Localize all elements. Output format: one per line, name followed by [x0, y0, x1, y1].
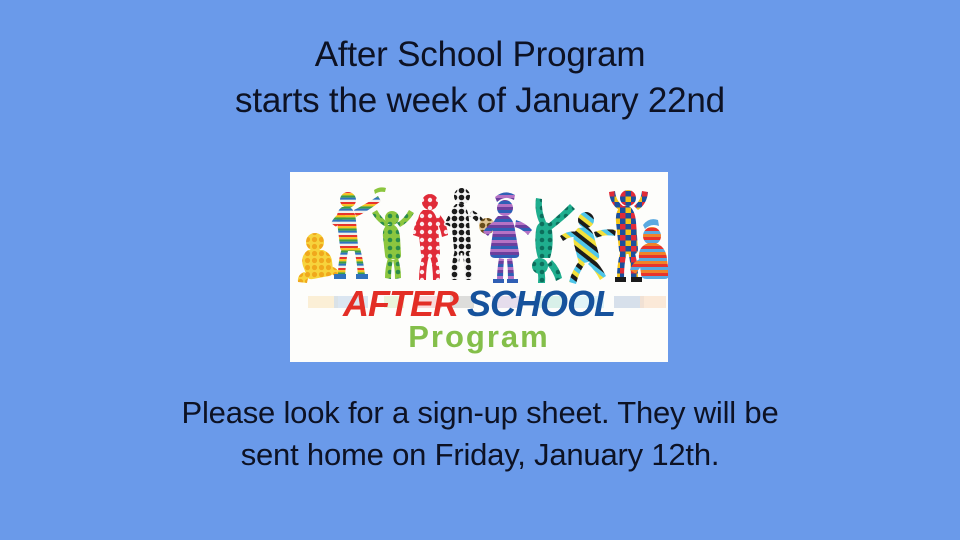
- figure-dancing-girl-purple: [483, 192, 532, 283]
- headline-line-2: starts the week of January 22nd: [0, 78, 960, 124]
- figure-running-child-cyan: [560, 212, 616, 284]
- logo-wordmark-line-1: AFTER SCHOOL: [290, 284, 668, 324]
- headline-line-1: After School Program: [0, 32, 960, 78]
- figure-arms-up-child-green: [372, 210, 414, 279]
- page-title: After School Program starts the week of …: [0, 32, 960, 124]
- figure-jumping-child-rainbow: [331, 187, 386, 279]
- after-school-program-logo-image: AFTER SCHOOL Program: [290, 172, 668, 362]
- slide-caption: Please look for a sign-up sheet. They wi…: [0, 392, 960, 476]
- caption-line-1: Please look for a sign-up sheet. They wi…: [0, 392, 960, 434]
- logo-word-school: SCHOOL: [467, 283, 615, 324]
- figure-cartwheel-child-teal: [532, 198, 575, 283]
- children-silhouettes-illustration: [290, 180, 668, 288]
- slide-canvas: After School Program starts the week of …: [0, 0, 960, 540]
- caption-line-2: sent home on Friday, January 12th.: [0, 434, 960, 476]
- figure-sitting-child-yellow: [298, 233, 339, 283]
- figure-standing-child-red: [413, 194, 448, 280]
- logo-word-space: [458, 283, 467, 324]
- logo-word-program: Program: [290, 320, 668, 354]
- logo-word-after: AFTER: [343, 283, 458, 324]
